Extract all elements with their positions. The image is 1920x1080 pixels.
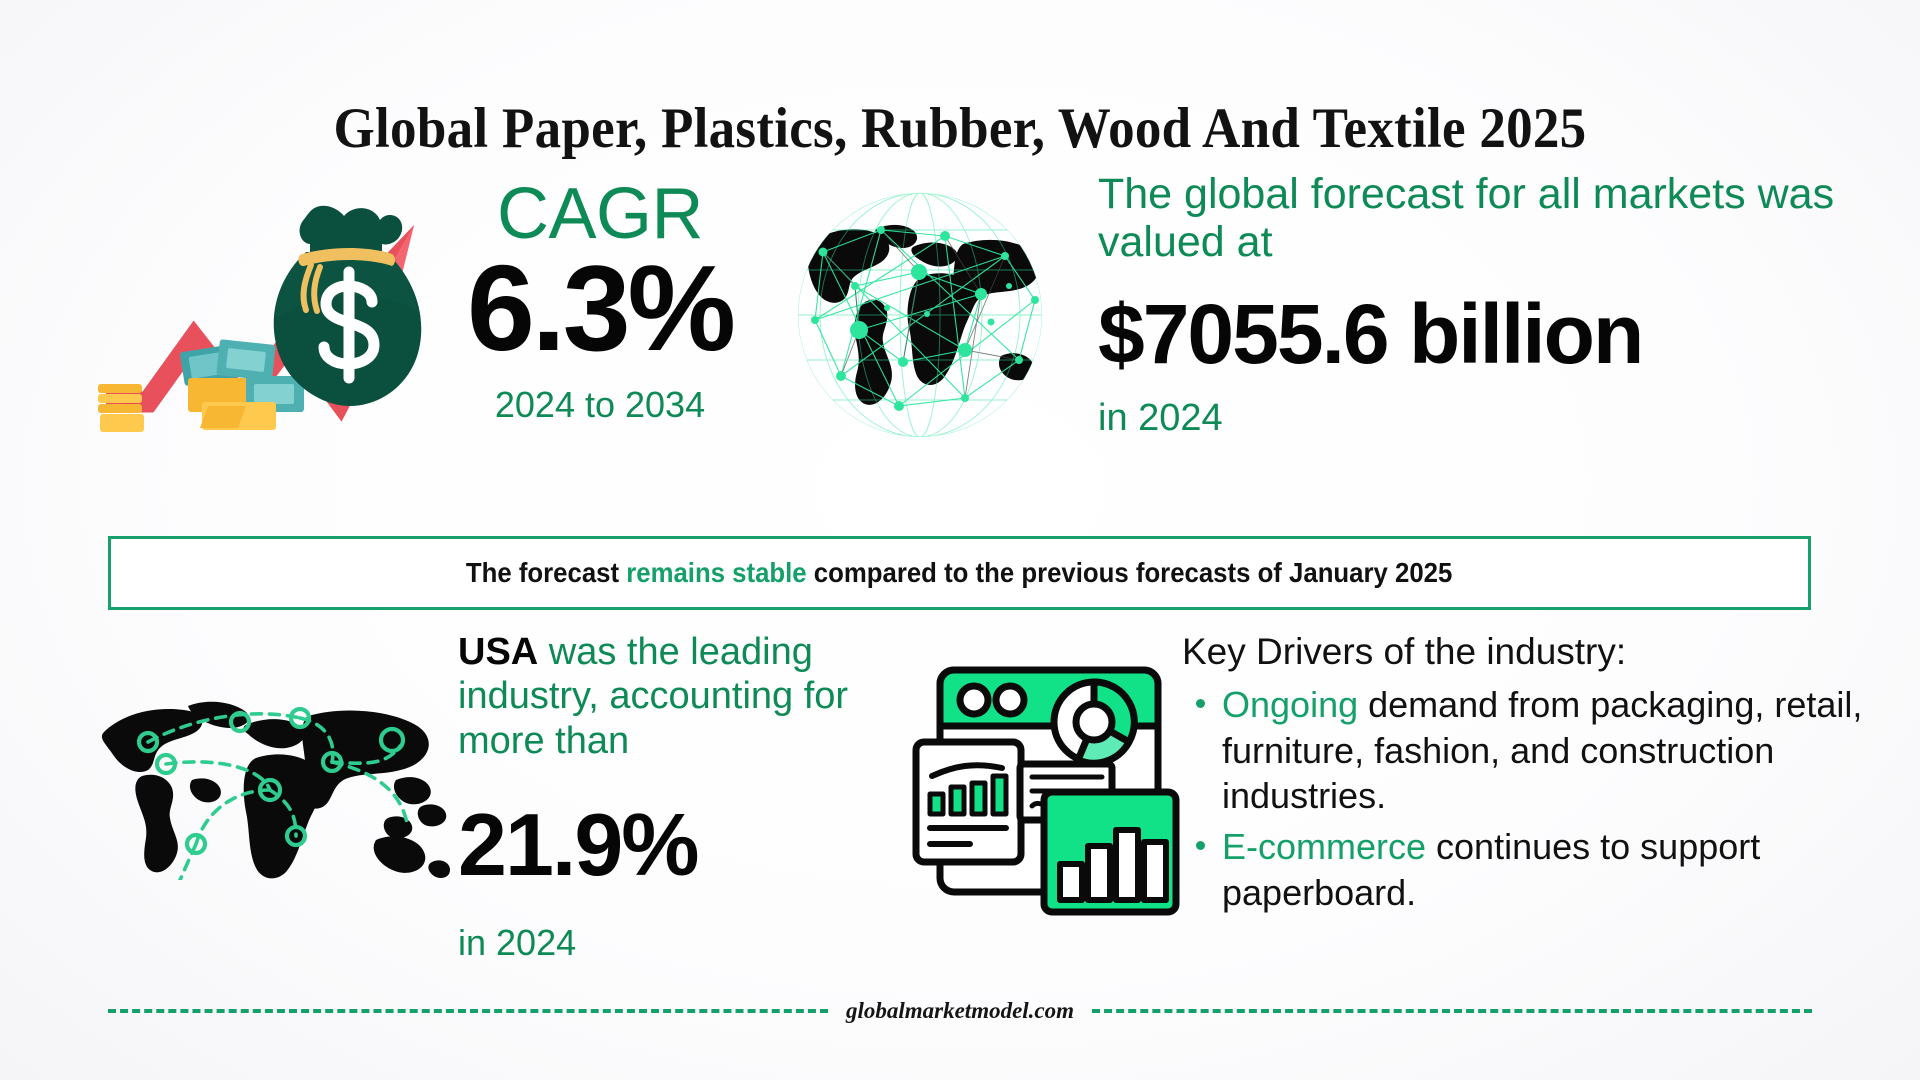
banner-suffix: compared to the previous forecasts of Ja… [807, 557, 1453, 588]
stability-banner: The forecast remains stable compared to … [108, 536, 1811, 610]
leading-region-country: USA [458, 631, 538, 673]
driver-highlight: Ongoing [1222, 684, 1358, 725]
banner-prefix: The forecast [466, 557, 626, 588]
leading-region-block: USA was the leading industry, accounting… [458, 630, 898, 964]
banner-highlight: remains stable [627, 557, 807, 588]
list-item: E-commerce continues to support paperboa… [1182, 824, 1882, 915]
analytics-dashboard-icon [898, 650, 1186, 930]
bullet-icon [1196, 699, 1205, 708]
cagr-block: CAGR 6.3% 2024 to 2034 [420, 178, 780, 426]
row-region-drivers: USA was the leading industry, accounting… [0, 630, 1920, 970]
footer-divider-left [108, 1009, 828, 1013]
footer: globalmarketmodel.com [108, 998, 1812, 1024]
bullet-icon [1196, 841, 1205, 850]
page-title: Global Paper, Plastics, Rubber, Wood And… [67, 96, 1853, 161]
network-globe-icon [795, 190, 1045, 440]
footer-brand: globalmarketmodel.com [846, 998, 1074, 1024]
list-item: Ongoing demand from packaging, retail, f… [1182, 682, 1882, 818]
leading-region-value: 21.9% [458, 799, 898, 891]
key-drivers-block: Key Drivers of the industry: Ongoing dem… [1182, 630, 1882, 915]
driver-highlight: E-commerce [1222, 826, 1426, 867]
key-drivers-list: Ongoing demand from packaging, retail, f… [1182, 682, 1882, 915]
growth-arrow-money-icon [96, 170, 426, 440]
leading-region-lead: USA was the leading industry, accounting… [458, 630, 898, 763]
forecast-block: The global forecast for all markets was … [1098, 170, 1858, 440]
forecast-value: $7055.6 billion [1098, 288, 1858, 380]
key-drivers-heading: Key Drivers of the industry: [1182, 630, 1882, 674]
footer-divider-right [1092, 1009, 1812, 1013]
cagr-value: 6.3% [420, 246, 780, 370]
forecast-year: in 2024 [1098, 397, 1858, 440]
leading-region-year: in 2024 [458, 922, 898, 964]
world-map-network-icon [96, 680, 456, 880]
infographic-root: Global Paper, Plastics, Rubber, Wood And… [0, 0, 1920, 1080]
stability-banner-text: The forecast remains stable compared to … [466, 557, 1452, 589]
cagr-period: 2024 to 2034 [420, 384, 780, 426]
row-cagr-forecast: CAGR 6.3% 2024 to 2034 [0, 170, 1920, 510]
forecast-lead: The global forecast for all markets was … [1098, 170, 1858, 266]
